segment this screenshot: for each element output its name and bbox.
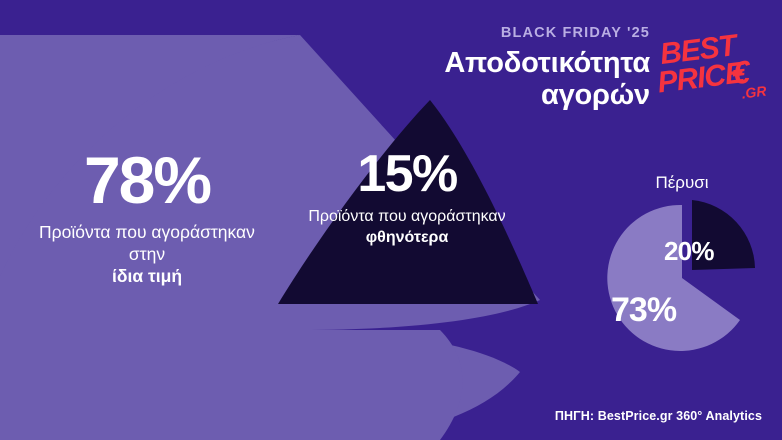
stat-block-left: 78% Προϊόντα που αγοράστηκαν στην ίδια τ…: [22, 148, 272, 288]
pie-label-20: 20%: [664, 238, 714, 264]
pie-chart-title: Πέρυσι: [596, 173, 768, 193]
stat-value-78: 78%: [22, 148, 272, 213]
headline-line-2: αγορών: [320, 80, 650, 112]
stat-caption-78-line2: αγοράστηκαν στην: [129, 222, 255, 264]
stat-caption-15-line2: που αγοράστηκαν: [378, 208, 506, 225]
header-text-group: BLACK FRIDAY '25 Αποδοτικότητα αγορών: [320, 26, 650, 112]
stat-caption-15-line1: Προϊόντα: [308, 208, 373, 225]
stat-caption-78: Προϊόντα που αγοράστηκαν στην ίδια τιμή: [22, 221, 272, 288]
headline-line-1: Αποδοτικότητα: [444, 47, 650, 79]
eyebrow-label: BLACK FRIDAY '25: [320, 26, 650, 42]
stat-block-center: 15% Προϊόντα που αγοράστηκαν φθηνότερα: [286, 148, 528, 249]
stat-caption-15: Προϊόντα που αγοράστηκαν φθηνότερα: [286, 207, 528, 249]
page-title: Αποδοτικότητα αγορών: [320, 48, 650, 112]
stat-value-15: 15%: [286, 148, 528, 200]
wedge-78-bottom-fill: [0, 330, 463, 440]
stat-caption-78-emphasis: ίδια τιμή: [22, 265, 272, 287]
stat-caption-15-emphasis: φθηνότερα: [286, 228, 528, 249]
source-note: ΠΗΓΗ: BestPrice.gr 360° Analytics: [555, 409, 762, 423]
infographic-canvas: BLACK FRIDAY '25 Αποδοτικότητα αγορών BE…: [0, 0, 782, 440]
bestprice-logo[interactable]: BEST PRICE € .GR: [654, 24, 770, 108]
stat-caption-78-line1: Προϊόντα που: [39, 222, 146, 242]
pie-label-73: 73%: [611, 293, 676, 327]
logo-tld: .GR: [741, 83, 769, 102]
